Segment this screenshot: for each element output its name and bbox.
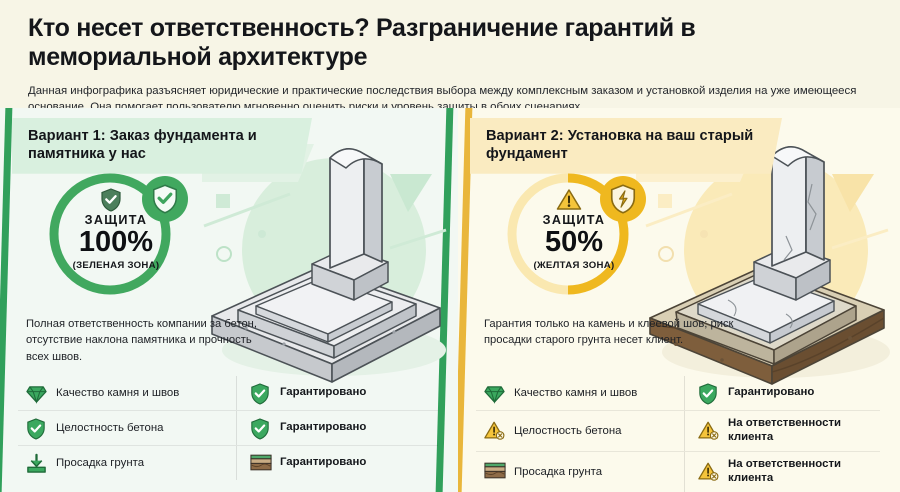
row-key-cell: Целостность бетона — [18, 411, 236, 445]
soil-layers-icon — [484, 461, 505, 482]
gauge-1-badge — [142, 176, 188, 222]
table-row: Просадка грунта На ответственности клиен… — [476, 451, 880, 492]
table-row: Целостность бетона На ответственности кл… — [476, 410, 880, 451]
gauge-2-zone: (ЖЕЛТАЯ ЗОНА) — [533, 260, 614, 271]
panel-1-description: Полная ответственность компании за бетон… — [26, 316, 276, 365]
shield-check-icon — [698, 383, 719, 404]
shield-check-icon — [250, 418, 271, 439]
gauge-2-label: ЗАЩИТА — [543, 213, 606, 227]
panel-1-heading: Вариант 1: Заказ фундамента и памятника … — [12, 118, 312, 174]
settlement-icon — [26, 453, 47, 474]
row-value-label: Гарантировано — [280, 386, 366, 400]
row-key-label: Просадка грунта — [514, 466, 602, 478]
warning-triangle-icon — [484, 420, 505, 441]
table-row: Целостность бетона Гарантировано — [18, 410, 438, 445]
row-key-label: Качество камня и швов — [56, 387, 179, 399]
row-key-cell: Качество камня и швов — [476, 376, 684, 410]
panel-left-accent-bar — [0, 108, 12, 492]
panel-2-heading: Вариант 2: Установка на ваш старый фунда… — [470, 118, 782, 174]
panel-1-comparison-table: Качество камня и швов Гарантировано — [18, 376, 438, 480]
gauge-2-value: 50% — [545, 228, 603, 258]
soil-layers-icon — [250, 453, 271, 474]
row-value-cell: Гарантировано — [236, 411, 438, 445]
row-value-cell: Гарантировано — [684, 376, 880, 410]
gauge-1-zone: (ЗЕЛЕНАЯ ЗОНА) — [73, 260, 160, 271]
diamond-icon — [484, 383, 505, 404]
panel-2-comparison-table: Качество камня и швов Гарантировано — [476, 376, 880, 492]
gauge-1-value: 100% — [79, 228, 153, 258]
row-key-cell: Целостность бетона — [476, 411, 684, 451]
row-value-label: Гарантировано — [280, 421, 366, 435]
warning-triangle-icon — [698, 461, 719, 482]
table-row: Качество камня и швов Гарантировано — [18, 376, 438, 410]
gauge-protection-1: ЗАЩИТА 100% (ЗЕЛЕНАЯ ЗОНА) — [26, 170, 206, 298]
header: Кто несет ответственность? Разграничение… — [0, 0, 900, 108]
row-value-cell: На ответственности клиента — [684, 411, 880, 451]
infographic-page: Кто несет ответственность? Разграничение… — [0, 0, 900, 492]
gauge-protection-2: ЗАЩИТА 50% (ЖЕЛТАЯ ЗОНА) — [484, 170, 664, 298]
row-value-label: На ответственности клиента — [728, 458, 872, 486]
warning-triangle-icon — [698, 420, 719, 441]
page-title: Кто несет ответственность? Разграничение… — [28, 14, 868, 72]
diamond-icon — [26, 383, 47, 404]
illustration-monument-old-foundation — [636, 138, 896, 388]
row-key-label: Целостность бетона — [56, 422, 163, 434]
row-key-cell: Просадка грунта — [18, 446, 236, 480]
row-key-label: Качество камня и швов — [514, 387, 637, 399]
row-key-label: Просадка грунта — [56, 457, 144, 469]
panel-2-description: Гарантия только на камень и клеевой шов;… — [484, 316, 734, 349]
row-key-cell: Просадка грунта — [476, 452, 684, 492]
gauge-2-badge — [600, 176, 646, 222]
panel-option-1: Вариант 1: Заказ фундамента и памятника … — [0, 108, 458, 492]
row-key-cell: Качество камня и швов — [18, 376, 236, 410]
row-key-label: Целостность бетона — [514, 425, 621, 437]
table-row: Качество камня и швов Гарантировано — [476, 376, 880, 410]
table-row: Просадка грунта Гарантировано — [18, 445, 438, 480]
broken-shield-icon — [609, 184, 637, 214]
row-value-cell: Гарантировано — [236, 446, 438, 480]
panel-option-2: Вариант 2: Установка на ваш старый фунда… — [458, 108, 900, 492]
shield-check-icon — [26, 418, 47, 439]
row-value-cell: Гарантировано — [236, 376, 438, 410]
shield-check-icon — [151, 184, 179, 214]
row-value-cell: На ответственности клиента — [684, 452, 880, 492]
row-value-label: Гарантировано — [280, 456, 366, 470]
gauge-1-label: ЗАЩИТА — [85, 213, 148, 227]
row-value-label: Гарантировано — [728, 386, 814, 400]
row-value-label: На ответственности клиента — [728, 417, 872, 445]
shield-check-icon — [250, 383, 271, 404]
